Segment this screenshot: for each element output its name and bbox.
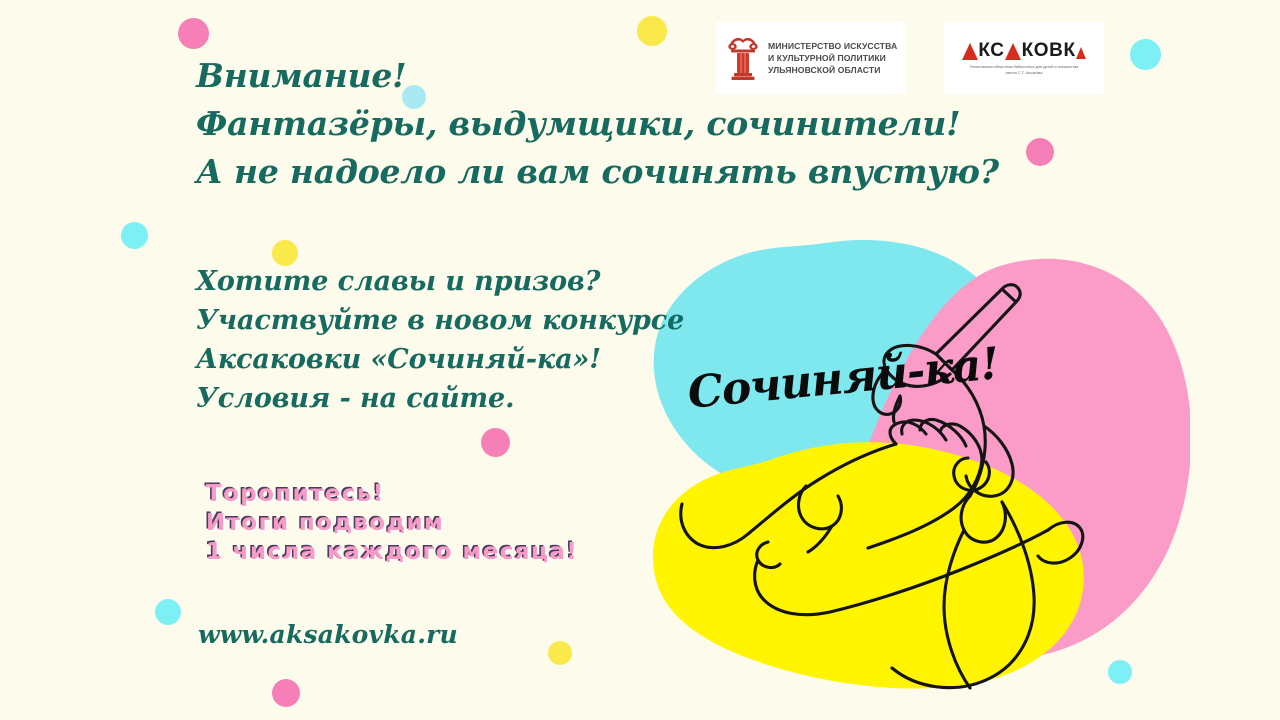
aksakovka-part-2: КОВК — [1022, 41, 1076, 60]
dot-yellow-bottom — [548, 641, 572, 665]
triangle-a-icon-3 — [1076, 47, 1086, 59]
body-copy-block: Хотите славы и призов? Участвуйте в ново… — [196, 262, 684, 418]
body-line-1: Хотите славы и призов? — [196, 262, 684, 301]
poster-root: Сочиняй-ка! МИНИСТЕ — [0, 0, 1280, 720]
headline-block: Внимание! Фантазёры, выдумщики, сочините… — [196, 52, 999, 196]
urgent-line-3: 1 числа каждого месяца! — [206, 538, 578, 567]
headline-line-1: Внимание! — [196, 52, 999, 100]
urgent-notice-block: Торопитесь! Итоги подводим 1 числа каждо… — [206, 480, 578, 567]
dot-pink-top-left — [178, 18, 209, 49]
dot-pink-right — [1026, 138, 1054, 166]
headline-line-2: Фантазёры, выдумщики, сочинители! — [196, 100, 999, 148]
dot-cyan-lower-left — [155, 599, 181, 625]
dot-pink-mid-left — [481, 428, 510, 457]
dot-pink-bottom — [272, 679, 300, 707]
dot-cyan-left — [121, 222, 148, 249]
dot-cyan-top-right — [1130, 39, 1161, 70]
ministry-line-1: МИНИСТЕРСТВО ИСКУССТВА — [768, 40, 897, 52]
urgent-line-2: Итоги подводим — [206, 509, 578, 538]
dot-yellow-top — [637, 16, 667, 46]
illustration — [620, 238, 1190, 690]
website-url[interactable]: www.aksakovka.ru — [198, 620, 458, 649]
body-line-4: Условия - на сайте. — [196, 379, 684, 418]
triangle-a-icon-2 — [1005, 43, 1021, 60]
body-line-3: Аксаковки «Сочиняй-ка»! — [196, 340, 684, 379]
illustration-svg — [620, 238, 1190, 690]
body-line-2: Участвуйте в новом конкурсе — [196, 301, 684, 340]
headline-line-3: А не надоело ли вам сочинять впустую? — [196, 148, 999, 196]
urgent-line-1: Торопитесь! — [206, 480, 578, 509]
